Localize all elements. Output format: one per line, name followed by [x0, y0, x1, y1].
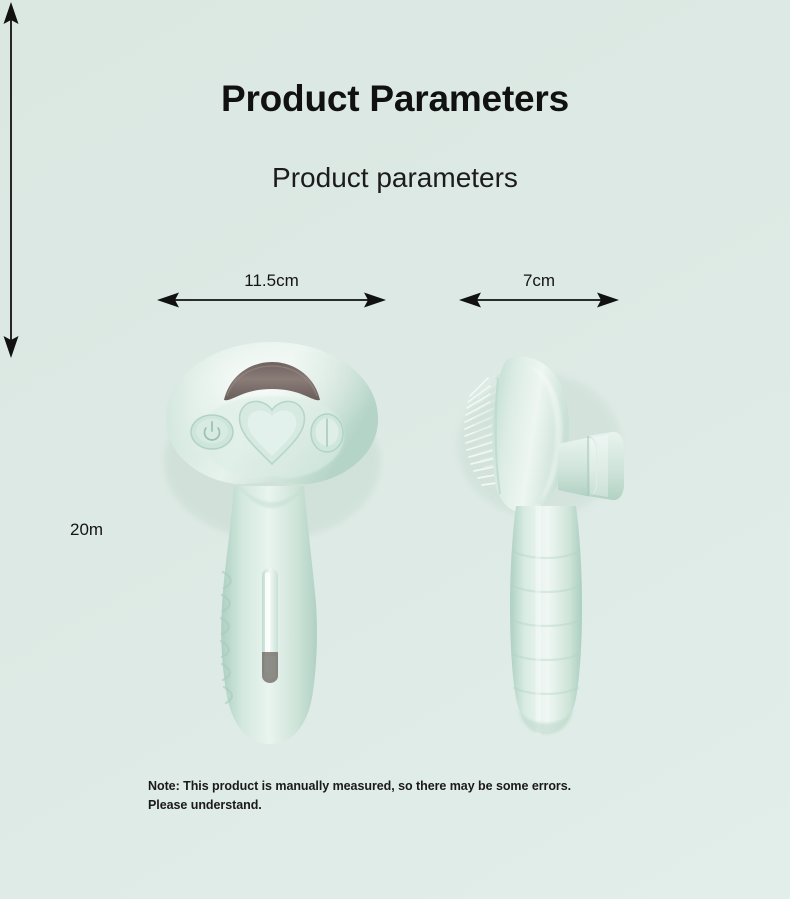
dimension-label-height: 20m [70, 521, 130, 538]
dimension-arrow-width-front [155, 289, 388, 311]
product-parameters-page: Product Parameters Product parameters 11… [0, 0, 790, 899]
power-button [191, 415, 233, 449]
measurement-note: Note: This product is manually measured,… [148, 777, 678, 816]
product-image-front [152, 336, 402, 756]
dimension-label-width-front: 11.5cm [157, 272, 386, 289]
dimension-label-width-side: 7cm [460, 272, 618, 289]
dimension-arrow-width-side [457, 289, 621, 311]
page-subtitle: Product parameters [0, 163, 790, 194]
note-line-2: Please understand. [148, 796, 678, 815]
note-line-1: Note: This product is manually measured,… [148, 777, 678, 796]
product-image-side [440, 336, 670, 756]
nozzle [558, 432, 624, 500]
toggle-switch [311, 414, 343, 452]
page-title: Product Parameters [0, 79, 790, 120]
